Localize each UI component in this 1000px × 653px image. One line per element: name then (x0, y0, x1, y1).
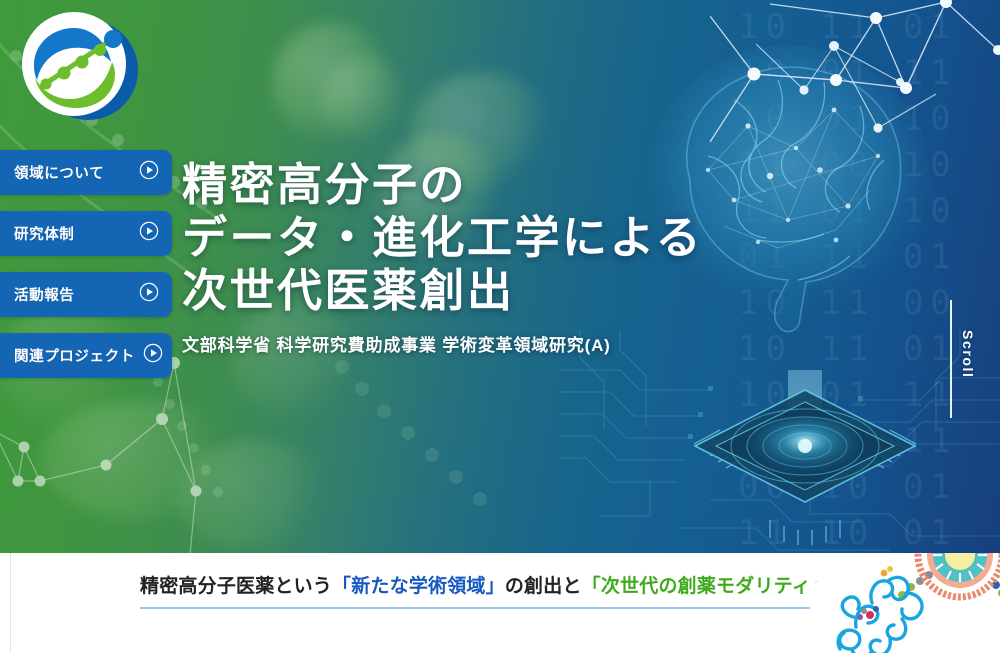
nav-item-label: 領域について (14, 162, 104, 183)
page-root: 10 11 01 10 01 11 10 01 10 11 00 10 11 0… (0, 0, 1000, 653)
site-logo-icon (12, 8, 146, 128)
hero-subtitle: 文部科学省 科学研究費助成事業 学術変革領域研究(A) (182, 331, 703, 356)
tagline-underline (140, 607, 856, 609)
hero-section: 10 11 01 10 01 11 10 01 10 11 00 10 11 0… (0, 0, 1000, 553)
tagline-segment-highlight-green: 「次世代の創薬モダリティ」 (582, 576, 830, 597)
tagline-banner: 精密高分子医薬という「新たな学術領域」の創出と「次世代の創薬モダリティ」を実現し… (0, 553, 1000, 653)
banner-text-wrap: 精密高分子医薬という「新たな学術領域」の創出と「次世代の創薬モダリティ」を実現し… (140, 571, 856, 609)
sidebar-item-activity-report[interactable]: 活動報告 (0, 272, 172, 317)
nav-item-label: 関連プロジェクト (14, 345, 135, 366)
sidebar-item-about-area[interactable]: 領域について (0, 150, 172, 195)
play-circle-icon (143, 343, 163, 368)
sidebar-item-related-projects[interactable]: 関連プロジェクト (0, 333, 172, 378)
nav-item-label: 研究体制 (14, 223, 74, 244)
molecule-illustration (810, 553, 1000, 653)
tagline-text: 精密高分子医薬という「新たな学術領域」の創出と「次世代の創薬モダリティ」を実現し… (140, 571, 856, 598)
scroll-line (950, 300, 952, 418)
decorative-blob (320, 56, 406, 146)
hero-copy: 精密高分子の データ・進化工学による 次世代医薬創出 文部科学省 科学研究費助成… (182, 158, 703, 356)
tagline-segment-1: 精密高分子医薬という (140, 576, 332, 597)
dna-helix-icon (330, 355, 520, 553)
hero-title-line-2: データ・進化工学による (182, 212, 703, 263)
site-logo[interactable] (12, 8, 146, 128)
play-circle-icon (139, 160, 159, 185)
banner-left-divider (10, 553, 11, 653)
play-circle-icon (139, 282, 159, 307)
node-network-graphic (710, 0, 1000, 156)
hero-title-line-1: 精密高分子の (182, 159, 467, 210)
main-navigation: 領域について 研究体制 活動報告 (0, 150, 172, 394)
scroll-label: Scroll (960, 330, 976, 379)
scroll-indicator[interactable]: Scroll (942, 300, 986, 420)
cpu-chip-graphic (680, 370, 930, 545)
hero-title-line-3: 次世代医薬創出 (182, 265, 515, 316)
tagline-segment-highlight-blue: 「新たな学術領域」 (332, 576, 505, 597)
tagline-segment-3: の創出と (505, 576, 582, 597)
page-title: 精密高分子の データ・進化工学による 次世代医薬創出 (182, 158, 703, 317)
play-circle-icon (139, 221, 159, 246)
nav-item-label: 活動報告 (14, 284, 74, 305)
sidebar-item-research-system[interactable]: 研究体制 (0, 211, 172, 256)
